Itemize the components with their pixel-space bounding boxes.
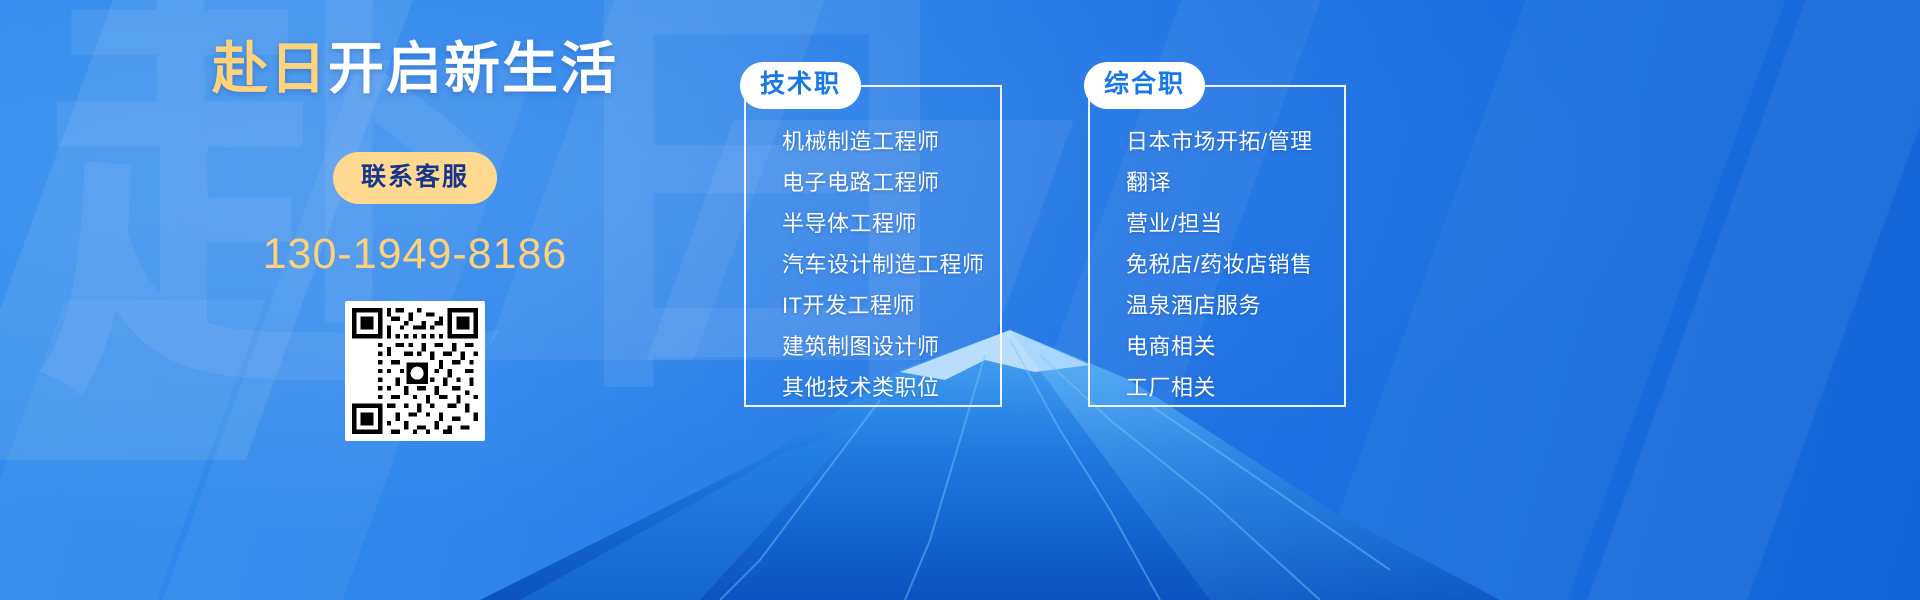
contact-service-button[interactable]: 联系客服 bbox=[333, 152, 497, 204]
list-item[interactable]: 汽车设计制造工程师 bbox=[782, 254, 1002, 276]
job-list-general: 日本市场开拓/管理 翻译 营业/担当 免税店/药妆店销售 温泉酒店服务 电商相关… bbox=[1088, 109, 1346, 399]
qr-code[interactable] bbox=[345, 301, 485, 441]
qr-code-image bbox=[352, 308, 478, 434]
list-item[interactable]: IT开发工程师 bbox=[782, 295, 1002, 317]
list-item[interactable]: 营业/担当 bbox=[1126, 213, 1346, 235]
list-item[interactable]: 工厂相关 bbox=[1126, 377, 1346, 399]
page-title: 赴日开启新生活 bbox=[150, 38, 680, 100]
list-item[interactable]: 半导体工程师 bbox=[782, 213, 1002, 235]
list-item[interactable]: 温泉酒店服务 bbox=[1126, 295, 1346, 317]
list-item[interactable]: 电子电路工程师 bbox=[782, 172, 1002, 194]
list-item[interactable]: 日本市场开拓/管理 bbox=[1126, 131, 1346, 153]
panel-badge-technical: 技术职 bbox=[740, 62, 861, 109]
job-category-panel-technical: 技术职 机械制造工程师 电子电路工程师 半导体工程师 汽车设计制造工程师 IT开… bbox=[744, 62, 1002, 418]
list-item[interactable]: 电商相关 bbox=[1126, 336, 1346, 358]
panel-badge-general: 综合职 bbox=[1084, 62, 1205, 109]
list-item[interactable]: 免税店/药妆店销售 bbox=[1126, 254, 1346, 276]
job-category-panel-general: 综合职 日本市场开拓/管理 翻译 营业/担当 免税店/药妆店销售 温泉酒店服务 … bbox=[1088, 62, 1346, 418]
phone-number: 130-1949-8186 bbox=[150, 230, 680, 279]
list-item[interactable]: 建筑制图设计师 bbox=[782, 336, 1002, 358]
headline-accent: 赴日 bbox=[212, 37, 328, 100]
list-item[interactable]: 翻译 bbox=[1126, 172, 1346, 194]
headline-rest: 开启新生活 bbox=[328, 37, 618, 100]
left-content-column: 赴日开启新生活 联系客服 130-1949-8186 bbox=[150, 38, 680, 446]
list-item[interactable]: 机械制造工程师 bbox=[782, 131, 1002, 153]
list-item[interactable]: 其他技术类职位 bbox=[782, 377, 1002, 399]
promo-banner: 赴日 bbox=[0, 0, 1920, 600]
job-list-technical: 机械制造工程师 电子电路工程师 半导体工程师 汽车设计制造工程师 IT开发工程师… bbox=[744, 109, 1002, 399]
